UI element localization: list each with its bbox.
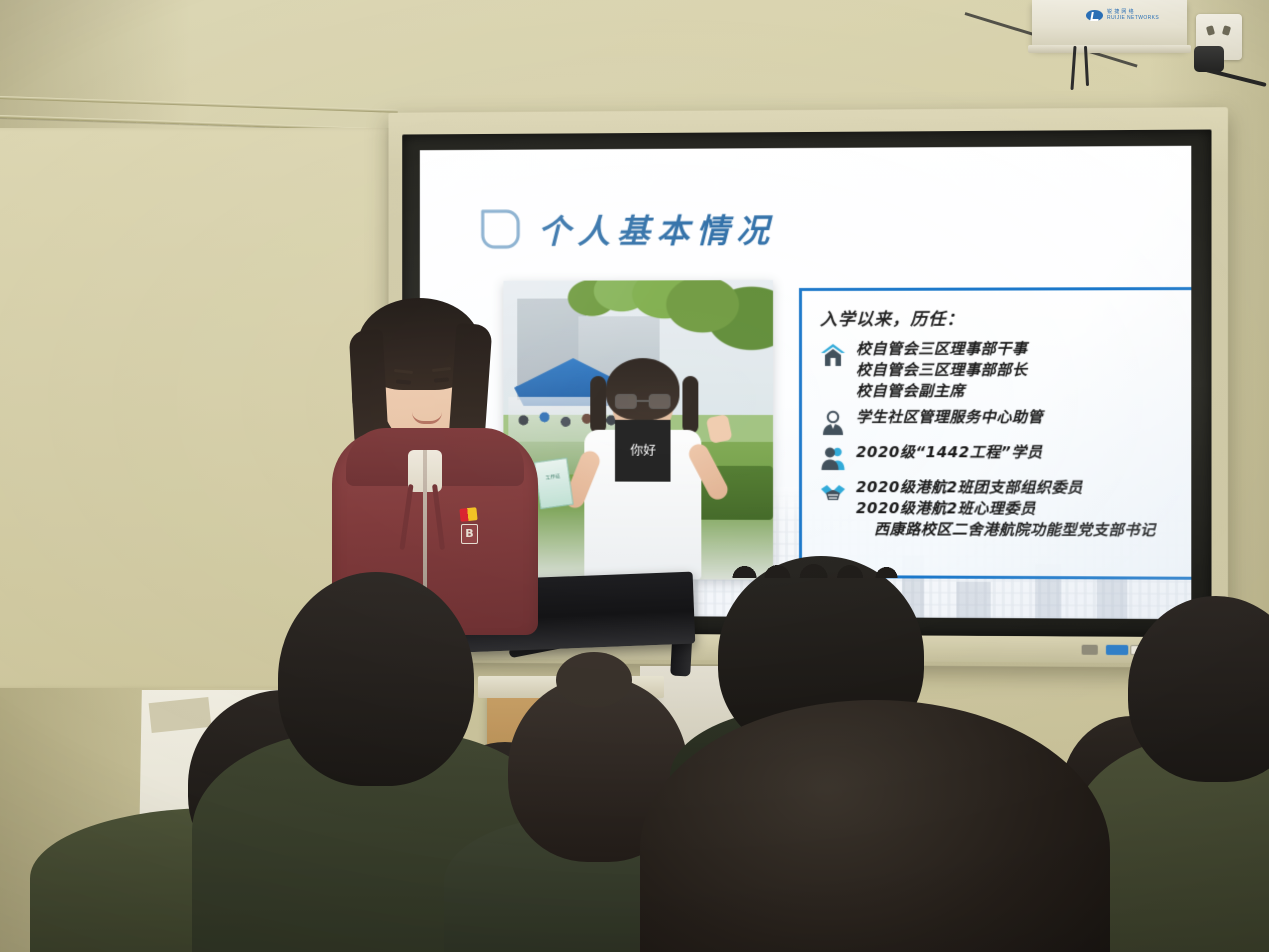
glasses-lens xyxy=(615,394,637,409)
list-line: 2020级港航2班心理委员 xyxy=(856,499,1156,520)
slide-title-row: 个人基本情况 xyxy=(479,204,776,253)
list-line: 校自管会三区理事部部长 xyxy=(856,361,1028,381)
textbox-heading: 入学以来，历任： xyxy=(820,304,1189,330)
glasses-icon xyxy=(615,394,671,409)
list-line: 校自管会三区理事部干事 xyxy=(856,340,1028,360)
list-item-lines: 2020级港航2班团支部组织委员 2020级港航2班心理委员 西康路校区二舍港航… xyxy=(856,479,1156,542)
classroom-photo-scene: 锐 捷 网 络 RUIJIE NETWORKS xyxy=(0,0,1269,952)
outlet-slot-icon xyxy=(1222,25,1231,36)
watermark-building xyxy=(1035,564,1061,618)
photo-student-hair-side xyxy=(590,376,606,434)
audience-hair-bun xyxy=(556,652,632,708)
device-brand-text: 锐 捷 网 络 RUIJIE NETWORKS xyxy=(1107,10,1159,22)
outlet-slot-icon xyxy=(1206,25,1215,36)
display-control-button[interactable] xyxy=(1082,645,1098,655)
list-line: 校自管会副主席 xyxy=(856,382,1028,402)
wall-mounted-speaker: 锐 捷 网 络 RUIJIE NETWORKS xyxy=(1032,0,1187,48)
audience-member xyxy=(1110,596,1269,952)
presenter-flag-pin-icon xyxy=(459,507,477,522)
glasses-bridge xyxy=(637,400,649,402)
audience-head xyxy=(278,572,474,786)
glasses-lens xyxy=(649,394,671,409)
list-item: 2020级港航2班团支部组织委员 2020级港航2班心理委员 西康路校区二舍港航… xyxy=(820,478,1189,541)
person-suit-icon xyxy=(820,410,846,436)
page-title: 个人基本情况 xyxy=(538,204,776,253)
list-item: 学生社区管理服务中心助管 xyxy=(820,408,1189,436)
presenter-letter-badge: B xyxy=(461,524,478,544)
audience-spiky-hair xyxy=(730,542,912,578)
list-item: 校自管会三区理事部干事 校自管会三区理事部部长 校自管会副主席 xyxy=(820,340,1189,402)
shirt-print-text: 你好 xyxy=(615,420,671,482)
photo-peace-hand xyxy=(706,414,733,444)
list-item: 2020级“1442工程”学员 xyxy=(820,443,1189,472)
list-line: 2020级“1442工程”学员 xyxy=(856,443,1042,463)
brand-logo-icon xyxy=(1086,10,1103,21)
audience-member-foreground xyxy=(640,700,1110,952)
leaf-outline-icon xyxy=(479,207,522,251)
audience-head xyxy=(640,700,1110,952)
list-item-lines: 校自管会三区理事部干事 校自管会三区理事部部长 校自管会副主席 xyxy=(856,340,1028,402)
list-line: 西康路校区二舍港航院功能型党支部书记 xyxy=(856,520,1156,541)
device-brand: 锐 捷 网 络 RUIJIE NETWORKS xyxy=(1086,10,1159,22)
device-bottom-lip xyxy=(1028,45,1191,53)
slide-textbox: 入学以来，历任： 校自管会三区理事部干事 校自管会三区 xyxy=(799,287,1191,580)
list-item-lines: 2020级“1442工程”学员 xyxy=(856,443,1042,463)
house-icon xyxy=(820,342,846,368)
audience-head xyxy=(1128,596,1269,782)
list-item-lines: 学生社区管理服务中心助管 xyxy=(856,408,1043,428)
photo-student-hair-side xyxy=(682,376,698,434)
photo-student-hair xyxy=(607,358,680,420)
two-people-icon xyxy=(820,445,846,471)
photo-student: 你好 工作证 xyxy=(579,364,708,580)
textbox-list: 校自管会三区理事部干事 校自管会三区理事部部长 校自管会副主席 xyxy=(820,340,1189,542)
list-line: 学生社区管理服务中心助管 xyxy=(856,408,1043,428)
handshake-icon xyxy=(820,480,846,506)
list-line: 2020级港航2班团支部组织委员 xyxy=(856,479,1156,500)
